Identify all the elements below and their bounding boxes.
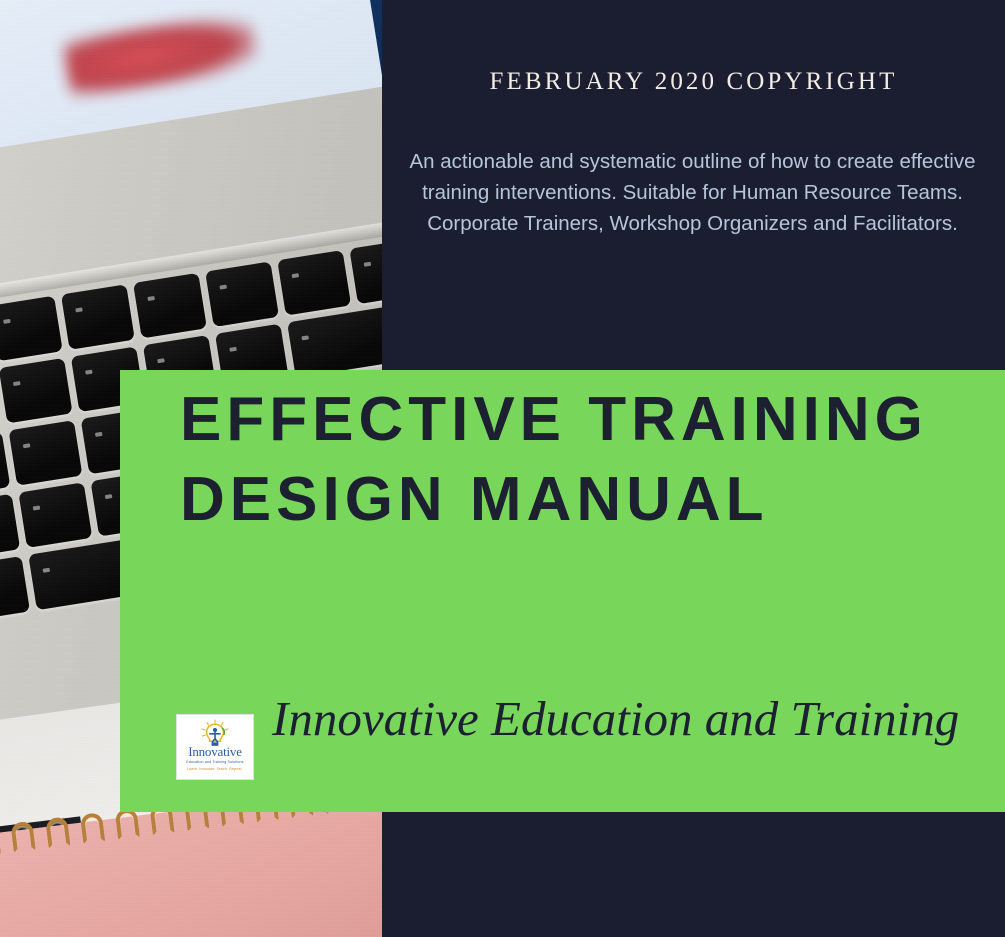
publisher-byline: Innovative Education and Training	[272, 692, 996, 746]
logo-tagline-secondary: Learn. Innovate. Teach. Repeat.	[177, 767, 253, 772]
byline-row: Innovative Education and Training Soluti…	[176, 692, 996, 780]
logo-wordmark: Innovative	[177, 745, 253, 759]
cover-subtitle: An actionable and systematic outline of …	[390, 146, 995, 239]
title-band: Effective Training Design Manual	[120, 370, 1005, 812]
copyright-kicker: FEBRUARY 2020 COPYRIGHT	[382, 68, 1005, 96]
page-title: Effective Training Design Manual	[180, 380, 980, 540]
innovative-logo: Innovative Education and Training Soluti…	[176, 714, 254, 780]
book-cover: FEBRUARY 2020 COPYRIGHT An actionable an…	[0, 0, 1005, 937]
logo-tagline-primary: Education and Training Solutions	[177, 760, 253, 765]
cover-header: FEBRUARY 2020 COPYRIGHT An actionable an…	[382, 0, 1005, 370]
